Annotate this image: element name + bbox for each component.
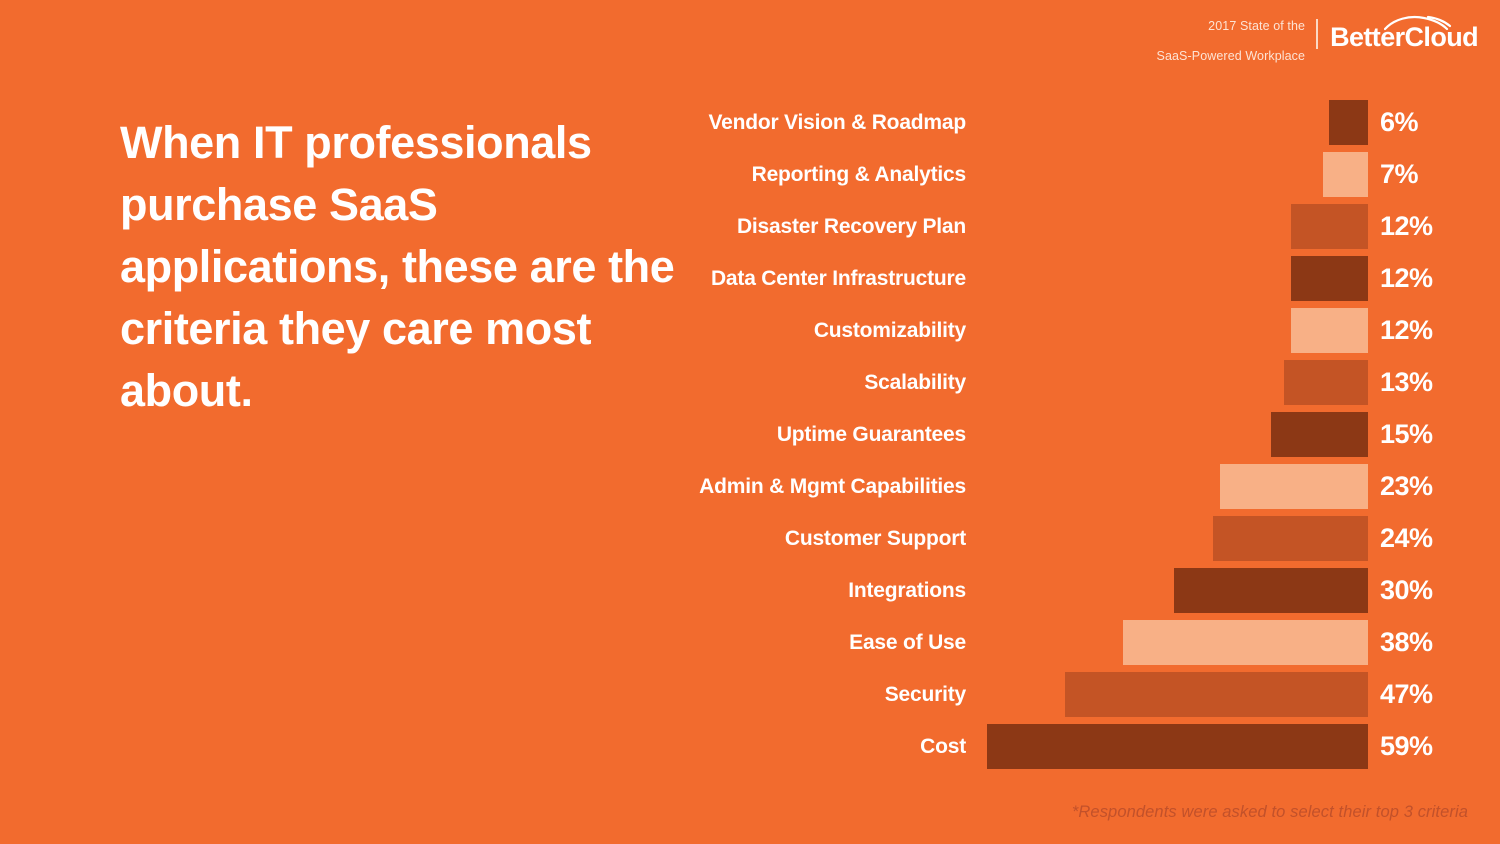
bar-fill [1291,256,1368,301]
bar-row: Vendor Vision & Roadmap6% [420,100,1480,145]
bar-track [978,256,1368,301]
bar-row: Scalability13% [420,360,1480,405]
header-tagline: 2017 State of the SaaS-Powered Workplace [1157,4,1317,64]
bar-label: Customizability [420,308,978,353]
bar-value: 47% [1368,672,1433,717]
bar-label: Reporting & Analytics [420,152,978,197]
bar-fill [1329,100,1368,145]
bar-row: Customer Support24% [420,516,1480,561]
bar-row: Reporting & Analytics7% [420,152,1480,197]
bar-fill [1271,412,1368,457]
bar-fill [1174,568,1368,613]
bar-row: Disaster Recovery Plan12% [420,204,1480,249]
bar-label: Customer Support [420,516,978,561]
bar-track [978,204,1368,249]
bar-track [978,516,1368,561]
header-tagline-line1: 2017 State of the [1208,19,1305,33]
bar-label: Cost [420,724,978,769]
bar-fill [1291,204,1368,249]
bar-label: Data Center Infrastructure [420,256,978,301]
chart-footnote: *Respondents were asked to select their … [1072,803,1468,822]
bar-fill [1291,308,1368,353]
bar-fill [1065,672,1368,717]
bar-row: Security47% [420,672,1480,717]
bar-fill [1213,516,1368,561]
bar-row: Data Center Infrastructure12% [420,256,1480,301]
bar-fill [1323,152,1368,197]
bar-value: 59% [1368,724,1433,769]
bar-row: Cost59% [420,724,1480,769]
bar-track [978,724,1368,769]
bettercloud-logo: BetterCloud [1330,17,1478,51]
bar-chart: Vendor Vision & Roadmap6%Reporting & Ana… [420,100,1480,776]
bar-value: 13% [1368,360,1433,405]
header: 2017 State of the SaaS-Powered Workplace… [1157,14,1478,54]
bar-label: Ease of Use [420,620,978,665]
bar-track [978,152,1368,197]
bar-value: 23% [1368,464,1433,509]
bar-row: Customizability12% [420,308,1480,353]
bar-row: Uptime Guarantees15% [420,412,1480,457]
bar-label: Integrations [420,568,978,613]
bar-row: Admin & Mgmt Capabilities23% [420,464,1480,509]
bar-value: 7% [1368,152,1418,197]
bar-label: Admin & Mgmt Capabilities [420,464,978,509]
vertical-divider-icon [1316,19,1318,49]
bar-label: Disaster Recovery Plan [420,204,978,249]
bar-value: 12% [1368,308,1433,353]
bar-fill [1284,360,1368,405]
bar-label: Security [420,672,978,717]
bar-track [978,360,1368,405]
bar-label: Scalability [420,360,978,405]
bar-value: 15% [1368,412,1433,457]
bar-fill [987,724,1368,769]
bar-value: 30% [1368,568,1433,613]
bar-label: Uptime Guarantees [420,412,978,457]
bar-track [978,308,1368,353]
bar-track [978,620,1368,665]
logo-text: BetterCloud [1330,23,1478,51]
bar-fill [1220,464,1368,509]
bar-track [978,464,1368,509]
bar-row: Ease of Use38% [420,620,1480,665]
bar-track [978,672,1368,717]
bar-value: 24% [1368,516,1433,561]
header-tagline-line2: SaaS-Powered Workplace [1157,49,1306,63]
bar-track [978,412,1368,457]
bar-track [978,568,1368,613]
bar-fill [1123,620,1368,665]
bar-value: 12% [1368,256,1433,301]
bar-label: Vendor Vision & Roadmap [420,100,978,145]
bar-value: 6% [1368,100,1418,145]
bar-track [978,100,1368,145]
bar-value: 12% [1368,204,1433,249]
bar-row: Integrations30% [420,568,1480,613]
bar-value: 38% [1368,620,1433,665]
